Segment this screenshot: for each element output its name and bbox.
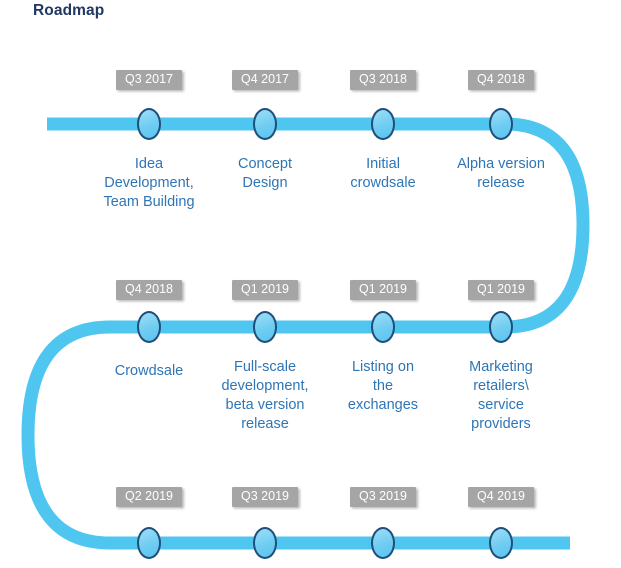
- milestone-caption: Listing on the exchanges: [328, 358, 438, 415]
- milestone-quarter-badge[interactable]: Q3 2019: [350, 487, 416, 507]
- milestone-marker-icon[interactable]: [137, 311, 161, 343]
- milestone-quarter-badge[interactable]: Q3 2019: [232, 487, 298, 507]
- milestone-marker-icon[interactable]: [253, 311, 277, 343]
- milestone-quarter-badge[interactable]: Q1 2019: [350, 280, 416, 300]
- roadmap-page: Roadmap Q3 2017 Idea Development, Team B…: [0, 0, 621, 568]
- milestone-marker-icon[interactable]: [489, 108, 513, 140]
- milestone-quarter-badge[interactable]: Q4 2019: [468, 487, 534, 507]
- milestone-marker-icon[interactable]: [489, 311, 513, 343]
- milestone-quarter-badge[interactable]: Q1 2019: [468, 280, 534, 300]
- milestone-quarter-badge[interactable]: Q1 2019: [232, 280, 298, 300]
- milestone-caption: Initial crowdsale: [318, 155, 448, 193]
- milestone-quarter-badge[interactable]: Q4 2018: [116, 280, 182, 300]
- milestone-caption: Marketing retailers\ service providers: [439, 358, 564, 435]
- milestone-marker-icon[interactable]: [371, 527, 395, 559]
- milestone-marker-icon[interactable]: [489, 527, 513, 559]
- milestone-quarter-badge[interactable]: Q4 2018: [468, 70, 534, 90]
- milestone-marker-icon[interactable]: [253, 527, 277, 559]
- milestone-caption: Full-scale development, beta version rel…: [198, 358, 333, 435]
- milestone-quarter-badge[interactable]: Q3 2017: [116, 70, 182, 90]
- milestone-marker-icon[interactable]: [137, 108, 161, 140]
- milestone-quarter-badge[interactable]: Q4 2017: [232, 70, 298, 90]
- milestone-caption: Concept Design: [200, 155, 330, 193]
- milestone-quarter-badge[interactable]: Q2 2019: [116, 487, 182, 507]
- milestone-caption: Alpha version release: [431, 155, 571, 193]
- milestone-marker-icon[interactable]: [253, 108, 277, 140]
- milestone-marker-icon[interactable]: [371, 311, 395, 343]
- milestone-marker-icon[interactable]: [371, 108, 395, 140]
- milestone-quarter-badge[interactable]: Q3 2018: [350, 70, 416, 90]
- milestone-marker-icon[interactable]: [137, 527, 161, 559]
